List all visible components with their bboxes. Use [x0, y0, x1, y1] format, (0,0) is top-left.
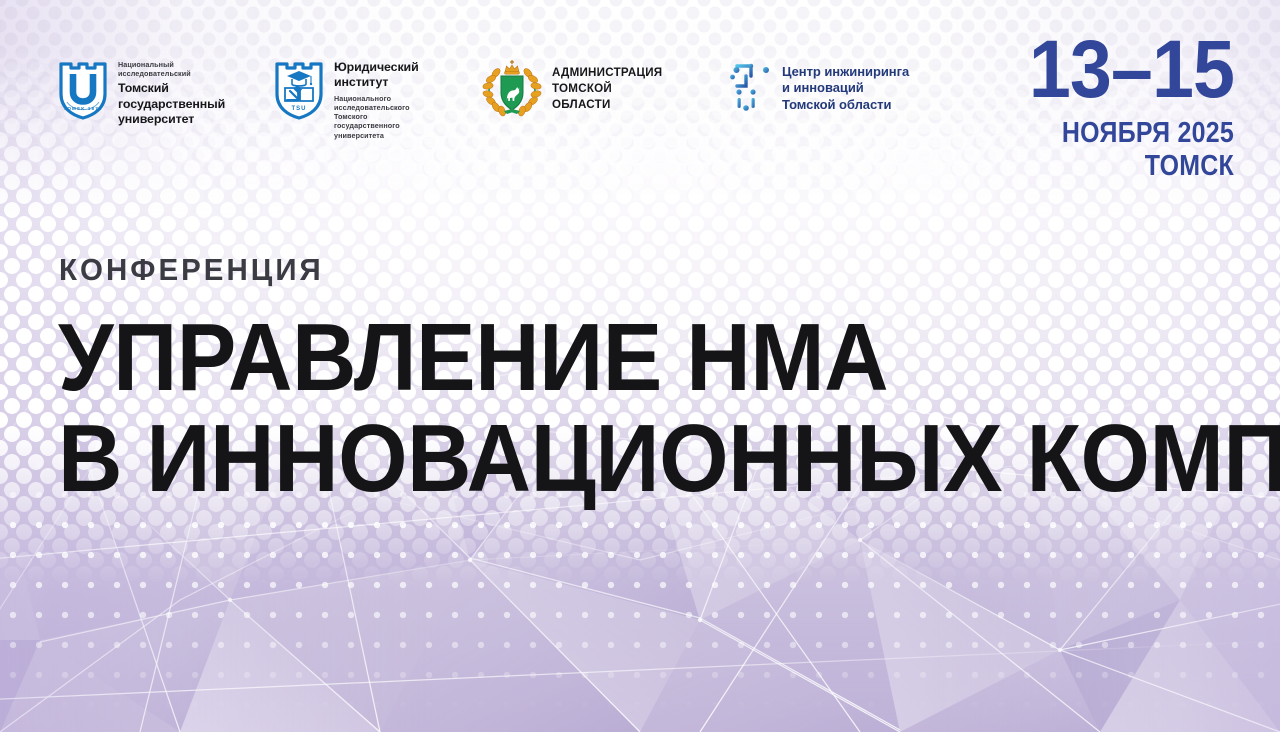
administration-logo-text: АДМИНИСТРАЦИЯ ТОМСКОЙ ОБЛАСТИ: [552, 58, 678, 112]
event-type-kicker: КОНФЕРЕНЦИЯ: [59, 252, 324, 288]
cii-line-2: и инноваций: [782, 80, 972, 96]
headline-line-1: УПРАВЛЕНИЕ НМА: [58, 312, 1280, 404]
ui-small-line-2: исследовательского: [334, 103, 442, 112]
tsu-big-line-2: государственный: [118, 97, 236, 112]
ui-small-line-3: Томского: [334, 112, 442, 121]
admin-line-1: АДМИНИСТРАЦИЯ: [552, 65, 678, 81]
svg-text:TOMSK 1878: TOMSK 1878: [64, 106, 103, 111]
tomsk-oblast-coat-of-arms-icon: [480, 58, 544, 125]
admin-line-2: ТОМСКОЙ: [552, 81, 678, 97]
logo-tomsk-state-university: TOMSK 1878 Национальный исследовательски…: [57, 58, 236, 128]
law-institute-logo-text: Юридический институт Национального иссле…: [334, 58, 442, 140]
page-title: УПРАВЛЕНИЕ НМА В ИННОВАЦИОННЫХ КОМПАНИЯХ: [58, 312, 1280, 505]
cii-line-1: Центр инжиниринга: [782, 64, 972, 80]
logo-tomsk-oblast-administration: АДМИНИСТРАЦИЯ ТОМСКОЙ ОБЛАСТИ: [480, 58, 678, 125]
tsu-logo-text: Национальный исследовательский Томский г…: [118, 58, 236, 128]
event-month-year: НОЯБРЯ 2025: [1042, 119, 1234, 149]
cii-line-3: Томской области: [782, 97, 972, 113]
ui-small-line-1: Национального: [334, 94, 442, 103]
ui-big-line-1: Юридический: [334, 60, 442, 75]
ui-small-line-5: университета: [334, 131, 442, 140]
svg-text:TSU: TSU: [292, 106, 307, 112]
ui-big-line-2: институт: [334, 75, 442, 90]
law-institute-shield-icon: TSU: [273, 58, 325, 125]
partner-logos: TOMSK 1878 Национальный исследовательски…: [57, 58, 972, 140]
event-date-range: 13–15: [1029, 36, 1234, 103]
conference-poster: TOMSK 1878 Национальный исследовательски…: [0, 0, 1280, 732]
tsu-shield-u-icon: TOMSK 1878: [57, 58, 109, 125]
engineering-center-logo-text: Центр инжиниринга и инноваций Томской об…: [782, 58, 972, 113]
tsu-big-line-1: Томский: [118, 81, 236, 96]
tsu-big-line-3: университет: [118, 112, 236, 127]
headline-line-2: В ИННОВАЦИОННЫХ КОМПАНИЯХ: [58, 413, 1280, 505]
ui-small-line-4: государственного: [334, 121, 442, 130]
circuit-t-icon: [720, 58, 772, 121]
logo-engineering-innovation-center: Центр инжиниринга и инноваций Томской об…: [720, 58, 972, 121]
tsu-small-line-1: Национальный: [118, 60, 236, 69]
event-city: ТОМСК: [1042, 152, 1234, 182]
event-date-block: 13–15 НОЯБРЯ 2025 ТОМСК: [1011, 36, 1234, 181]
admin-line-3: ОБЛАСТИ: [552, 97, 678, 113]
tsu-small-line-2: исследовательский: [118, 69, 236, 78]
logo-law-institute: TSU Юридический институт Национального и…: [273, 58, 442, 140]
